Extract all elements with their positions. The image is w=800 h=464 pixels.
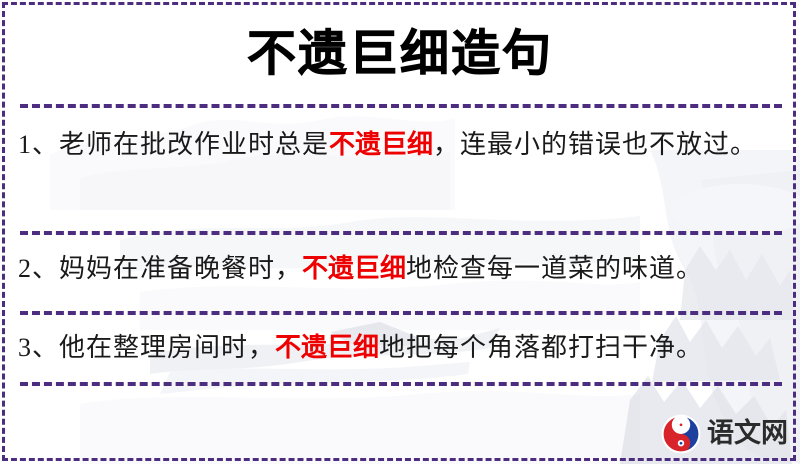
keyword-highlight: 不遗巨细 [302, 254, 406, 283]
page-title: 不遗巨细造句 [0, 22, 800, 84]
separator-below-sentence-3 [20, 382, 782, 386]
sentence-number: 2、 [18, 254, 59, 283]
sentence-text-after: 地把每个角落都打扫干净。 [379, 333, 703, 362]
sentence-number: 1、 [18, 130, 59, 159]
keyword-highlight: 不遗巨细 [275, 333, 379, 362]
yinyang-logo-icon [661, 414, 701, 454]
sentence-item: 1、老师在批改作业时总是不遗巨细，连最小的错误也不放过。 [18, 122, 786, 167]
separator-above-sentence-3 [20, 311, 782, 315]
sentence-text-before: 他在整理房间时， [59, 333, 275, 362]
separator-above-sentence-1 [20, 104, 782, 108]
sentence-item: 2、妈妈在准备晚餐时，不遗巨细地检查每一道菜的味道。 [18, 246, 786, 291]
sentence-number: 3、 [18, 333, 59, 362]
site-logo[interactable]: 语文网 [661, 412, 791, 456]
sentence-item: 3、他在整理房间时，不遗巨细地把每个角落都打扫干净。 [18, 325, 786, 370]
page-canvas: 不遗巨细造句 1、老师在批改作业时总是不遗巨细，连最小的错误也不放过。 2、妈妈… [0, 0, 800, 464]
site-logo-text: 语文网 [707, 419, 788, 449]
sentence-text-before: 妈妈在准备晚餐时， [59, 254, 302, 283]
separator-above-sentence-2 [20, 231, 782, 235]
sentence-text-after: 地检查每一道菜的味道。 [406, 254, 703, 283]
sentence-text-before: 老师在批改作业时总是 [59, 130, 329, 159]
sentence-text-after: ，连最小的错误也不放过。 [433, 130, 757, 159]
keyword-highlight: 不遗巨细 [329, 130, 433, 159]
